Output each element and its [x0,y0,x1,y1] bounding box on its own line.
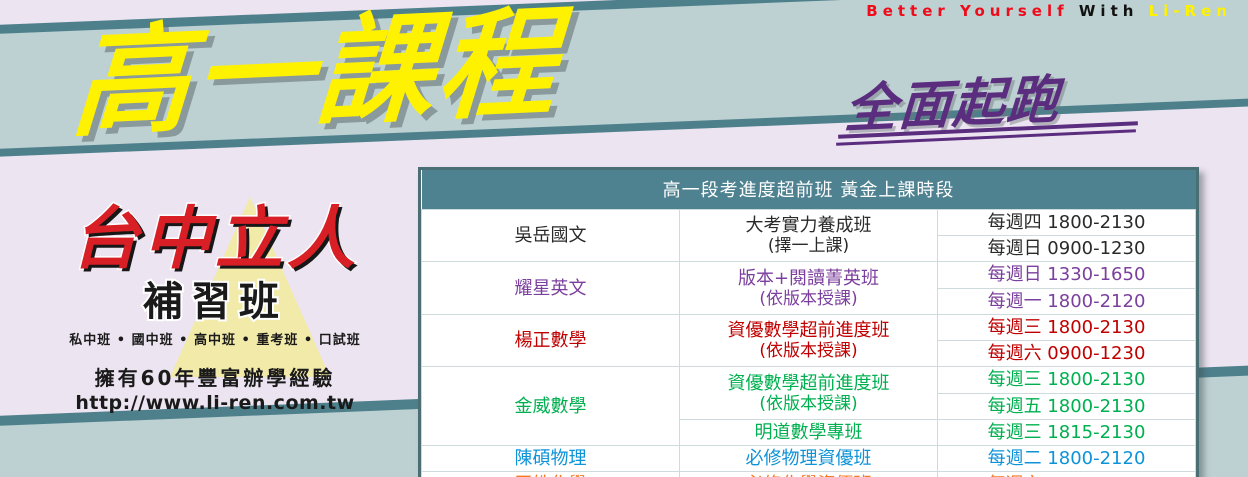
cell-time: 每週五 1800-2130 [938,393,1196,419]
tagline-part-red: Better Yourself [866,2,1068,20]
page-title: 高一課程 [69,3,564,144]
cell-time: 每週四 1800-2130 [938,210,1196,236]
course-title: 必修物理資優班 [684,448,933,469]
cell-time: 每週日 0900-1230 [938,236,1196,262]
cell-time: 每週三 1800-2130 [938,314,1196,340]
course-title: 大考實力養成班 [684,215,933,236]
table-header-row: 高一段考進度超前班 黃金上課時段 [422,170,1196,210]
cell-time: 每週二 1800-2120 [938,446,1196,472]
cell-teacher: 陳碩物理 [422,446,680,472]
cell-time: 每週三 1815-2130 [938,419,1196,445]
cell-time: 每週六 1330-1650 [938,472,1196,477]
tagline-part-black: With [1079,2,1139,20]
course-title: 資優數學超前進度班 [684,373,933,394]
cell-course: 必修物理資優班 [680,446,938,472]
cell-teacher: 金威數學 [422,367,680,446]
course-note: (依版本授課) [684,394,933,414]
logo-name: 台中立人 [40,205,390,273]
cell-time: 每週一 1800-2120 [938,288,1196,314]
schedule-table-head: 高一段考進度超前班 黃金上課時段 [422,170,1196,210]
cell-teacher: 王皓化學 [422,472,680,477]
schedule-table-title: 高一段考進度超前班 黃金上課時段 [422,170,1196,210]
cell-time: 每週六 0900-1230 [938,341,1196,367]
cell-course: 版本+閱讀菁英班(依版本授課) [680,262,938,314]
poster-canvas: Better Yourself With Li-Ren 高一課程 全面起跑 台中… [0,0,1248,477]
cell-teacher: 耀星英文 [422,262,680,314]
course-note: (擇一上課) [684,236,933,256]
logo-class-list: 私中班 • 國中班 • 高中班 • 重考班 • 口試班 [40,329,390,348]
course-note: (依版本授課) [684,341,933,361]
tagline-part-yellow: Li-Ren [1149,2,1232,20]
logo-website-url: http://www.li-ren.com.tw [40,392,390,414]
cell-course: 必修化學資優班 [680,472,938,477]
course-title: 明道數學專班 [684,422,933,443]
table-row: 吳岳國文大考實力養成班(擇一上課)每週四 1800-2130 [422,210,1196,236]
schedule-table-body: 吳岳國文大考實力養成班(擇一上課)每週四 1800-2130每週日 0900-1… [422,210,1196,477]
cell-course: 資優數學超前進度班(依版本授課) [680,314,938,366]
logo-experience: 擁有60年豐富辦學經驗 [40,362,390,391]
course-title: 資優數學超前進度班 [684,320,933,341]
table-row: 楊正數學資優數學超前進度班(依版本授課)每週三 1800-2130 [422,314,1196,340]
cell-time: 每週日 1330-1650 [938,262,1196,288]
table-row: 王皓化學必修化學資優班每週六 1330-1650 [422,472,1196,477]
brand-tagline: Better Yourself With Li-Ren [866,2,1232,20]
cell-teacher: 吳岳國文 [422,210,680,262]
cell-time: 每週三 1800-2130 [938,367,1196,393]
cell-course: 明道數學專班 [680,419,938,445]
cell-teacher: 楊正數學 [422,314,680,366]
schedule-table: 高一段考進度超前班 黃金上課時段 吳岳國文大考實力養成班(擇一上課)每週四 18… [421,170,1196,477]
table-row: 耀星英文版本+閱讀菁英班(依版本授課)每週日 1330-1650 [422,262,1196,288]
table-row: 金威數學資優數學超前進度班(依版本授課)每週三 1800-2130 [422,367,1196,393]
brand-logo: 台中立人 補習班 私中班 • 國中班 • 高中班 • 重考班 • 口試班 擁有6… [40,205,390,414]
table-row: 陳碩物理必修物理資優班每週二 1800-2120 [422,446,1196,472]
cell-course: 資優數學超前進度班(依版本授課) [680,367,938,419]
course-title: 版本+閱讀菁英班 [684,268,933,289]
cell-course: 大考實力養成班(擇一上課) [680,210,938,262]
course-note: (依版本授課) [684,289,933,309]
schedule-table-container: 高一段考進度超前班 黃金上課時段 吳岳國文大考實力養成班(擇一上課)每週四 18… [418,167,1199,477]
